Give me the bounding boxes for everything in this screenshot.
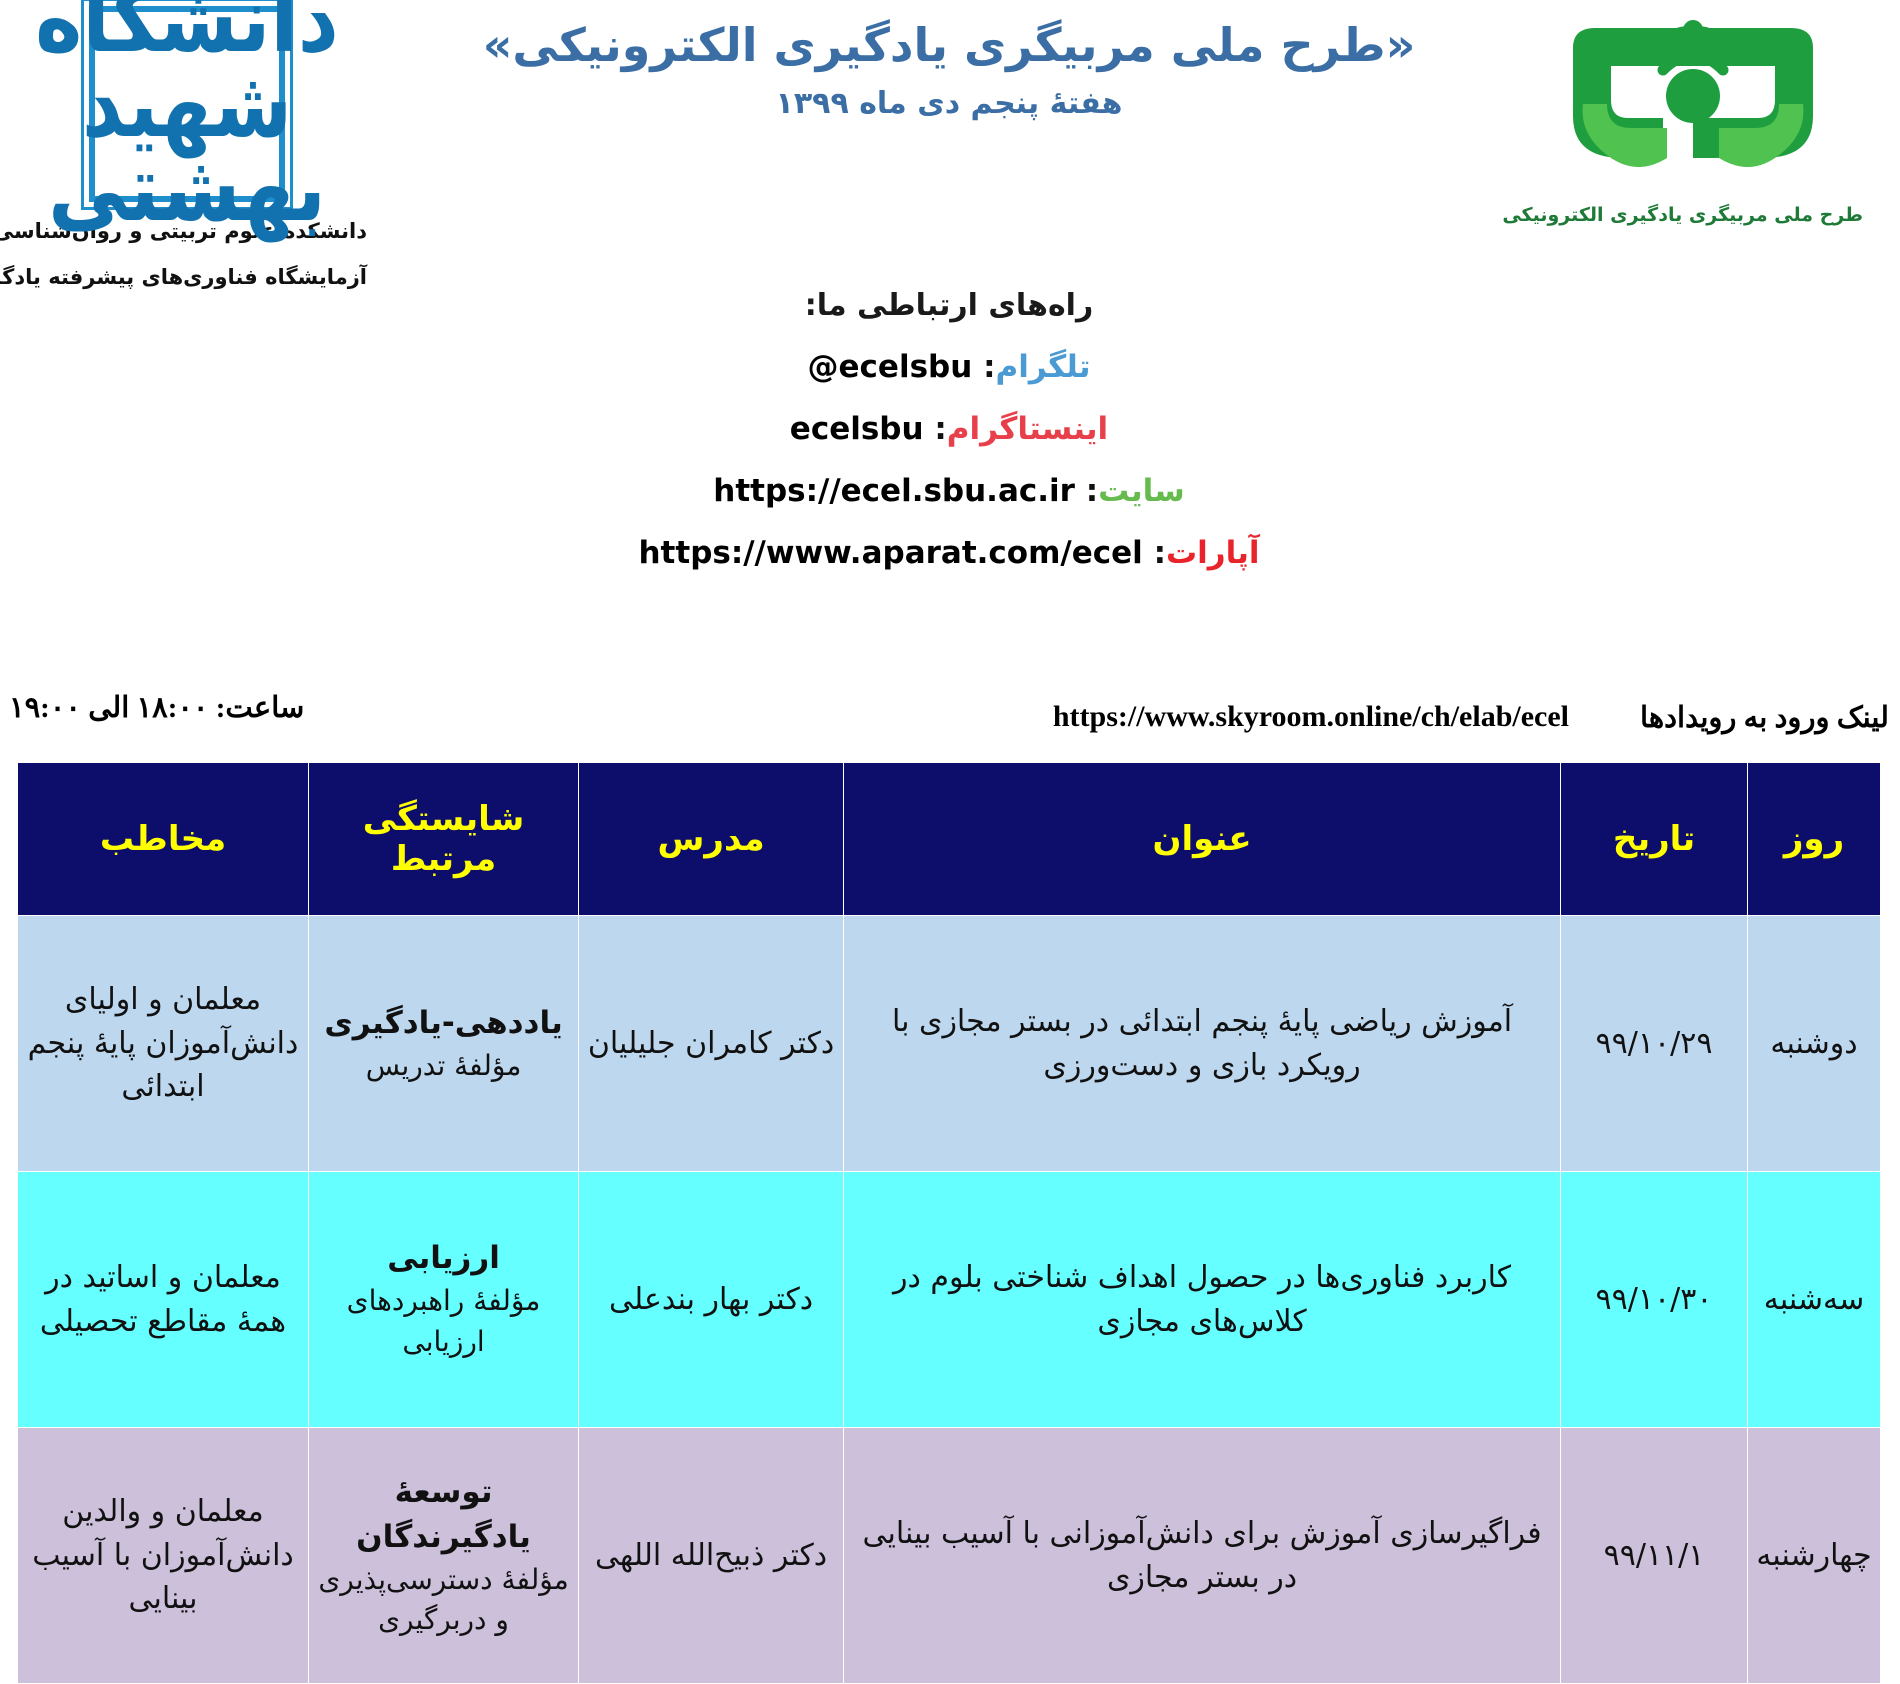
cell-teacher: دکتر بهار بندعلی bbox=[580, 1172, 845, 1428]
cell-day: دوشنبه bbox=[1749, 916, 1882, 1172]
event-link-url[interactable]: https://www.skyroom.online/ch/elab/ecel bbox=[1054, 700, 1570, 734]
contact-label-instagram: اینستاگرام bbox=[948, 411, 1109, 447]
column-header-title: عنوان bbox=[845, 763, 1562, 916]
cell-audience: معلمان و والدین دانش‌آموزان با آسیب بینا… bbox=[19, 1428, 310, 1684]
university-block: دانشگاه شهید بهشتی دانشکده علوم تربیتی و… bbox=[8, 6, 368, 293]
table-header-row: روز تاریخ عنوان مدرس شایستگی مرتبط مخاطب bbox=[19, 763, 1882, 916]
cell-competency: یاددهی-یادگیری مؤلفۀ تدریس bbox=[309, 916, 579, 1172]
cell-competency: ارزیابی مؤلفۀ راهبردهای ارزیابی bbox=[309, 1172, 579, 1428]
column-header-day: روز bbox=[1749, 763, 1882, 916]
contact-label-telegram: تلگرام bbox=[997, 349, 1092, 385]
table-row: سه‌شنبه ۹۹/۱۰/۳۰ کاربرد فناوری‌ها در حصو… bbox=[19, 1172, 1882, 1428]
contact-value-instagram[interactable]: ecelsbu bbox=[791, 411, 925, 447]
competency-sub: مؤلفۀ راهبردهای ارزیابی bbox=[318, 1281, 571, 1362]
competency-main: توسعۀ یادگیرندگان bbox=[318, 1470, 571, 1560]
contact-row-telegram: تلگرام: @ecelsbu bbox=[0, 349, 1900, 385]
cell-teacher: دکتر کامران جلیلیان bbox=[580, 916, 845, 1172]
column-header-teacher: مدرس bbox=[580, 763, 845, 916]
contact-value-website[interactable]: https://ecel.sbu.ac.ir bbox=[714, 473, 1076, 509]
cell-competency: توسعۀ یادگیرندگان مؤلفۀ دسترسی‌پذیری و د… bbox=[309, 1428, 579, 1684]
competency-sub: مؤلفۀ تدریس bbox=[318, 1046, 571, 1087]
contact-sep-instagram: : bbox=[935, 411, 947, 447]
shahid-beheshti-university-logo-icon: دانشگاه شهید بهشتی bbox=[90, 6, 286, 202]
contact-row-website: سایت: https://ecel.sbu.ac.ir bbox=[0, 473, 1900, 509]
cell-audience: معلمان و اساتید در همۀ مقاطع تحصیلی bbox=[19, 1172, 310, 1428]
table-row: دوشنبه ۹۹/۱۰/۲۹ آموزش ریاضی پایۀ پنجم اب… bbox=[19, 916, 1882, 1172]
ecel-project-logo-icon bbox=[1544, 8, 1844, 198]
cell-date: ۹۹/۱۰/۲۹ bbox=[1562, 916, 1749, 1172]
cell-day: سه‌شنبه bbox=[1749, 1172, 1882, 1428]
event-link-strip: لینک ورود به رویدادها https://www.skyroo… bbox=[0, 700, 1900, 746]
contact-value-aparat[interactable]: https://www.aparat.com/ecel bbox=[639, 535, 1143, 571]
schedule-table-wrap: روز تاریخ عنوان مدرس شایستگی مرتبط مخاطب… bbox=[18, 762, 1882, 1684]
event-time-label: ساعت: ۱۸:۰۰ الی ۱۹:۰۰ bbox=[10, 692, 305, 725]
cell-title: آموزش ریاضی پایۀ پنجم ابتدائی در بستر مج… bbox=[845, 916, 1562, 1172]
ecel-logo-block: طرح ملی مربیگری یادگیری الکترونیکی bbox=[1524, 8, 1864, 226]
competency-main: ارزیابی bbox=[318, 1236, 571, 1281]
column-header-audience: مخاطب bbox=[19, 763, 310, 916]
schedule-table: روز تاریخ عنوان مدرس شایستگی مرتبط مخاطب… bbox=[18, 762, 1882, 1684]
contact-label-website: سایت bbox=[1099, 473, 1186, 509]
table-row: چهارشنبه ۹۹/۱۱/۱ فراگیرسازی آموزش برای د… bbox=[19, 1428, 1882, 1684]
contact-row-aparat: آپارات: https://www.aparat.com/ecel bbox=[0, 535, 1900, 571]
cell-day: چهارشنبه bbox=[1749, 1428, 1882, 1684]
cell-date: ۹۹/۱۰/۳۰ bbox=[1562, 1172, 1749, 1428]
competency-sub: مؤلفۀ دسترسی‌پذیری و دربرگیری bbox=[318, 1560, 571, 1641]
competency-main: یاددهی-یادگیری bbox=[318, 1001, 571, 1046]
contact-block: راه‌های ارتباطی ما: تلگرام: @ecelsbu این… bbox=[0, 288, 1900, 597]
cell-title: فراگیرسازی آموزش برای دانش‌آموزانی با آس… bbox=[845, 1428, 1562, 1684]
contact-row-instagram: اینستاگرام: ecelsbu bbox=[0, 411, 1900, 447]
cell-title: کاربرد فناوری‌ها در حصول اهداف شناختی بل… bbox=[845, 1172, 1562, 1428]
cell-date: ۹۹/۱۱/۱ bbox=[1562, 1428, 1749, 1684]
contact-sep-telegram: : bbox=[984, 349, 996, 385]
contact-label-aparat: آپارات bbox=[1167, 535, 1261, 571]
university-logo-calligraphy: دانشگاه شهید بهشتی bbox=[36, 0, 340, 231]
poster-header: دانشگاه شهید بهشتی دانشکده علوم تربیتی و… bbox=[0, 0, 1900, 300]
contact-value-telegram[interactable]: @ecelsbu bbox=[809, 349, 974, 385]
column-header-date: تاریخ bbox=[1562, 763, 1749, 916]
cell-teacher: دکتر ذبیح‌الله اللهی bbox=[580, 1428, 845, 1684]
contact-sep-aparat: : bbox=[1155, 535, 1167, 571]
cell-audience: معلمان و اولیای دانش‌آموزان پایۀ پنجم اب… bbox=[19, 916, 310, 1172]
contact-sep-website: : bbox=[1087, 473, 1099, 509]
ecel-logo-caption: طرح ملی مربیگری یادگیری الکترونیکی bbox=[1524, 204, 1864, 226]
contact-heading: راه‌های ارتباطی ما: bbox=[0, 288, 1900, 323]
event-link-label: لینک ورود به رویدادها bbox=[1641, 700, 1890, 735]
column-header-competency: شایستگی مرتبط bbox=[309, 763, 579, 916]
